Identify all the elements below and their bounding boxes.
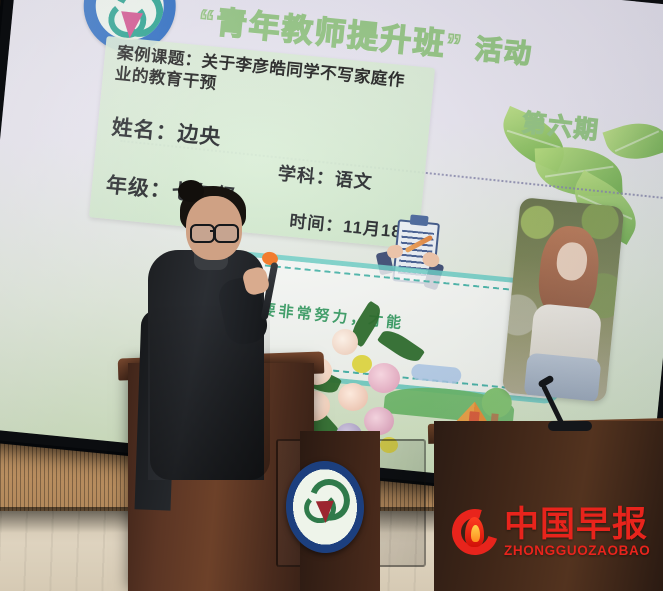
fern-leaf [377, 326, 425, 367]
glasses-bridge [210, 230, 216, 232]
lily [368, 363, 400, 393]
watermark-pinyin: ZHONGGUOZAOBAO [504, 544, 650, 558]
time-label: 时间： [289, 212, 345, 236]
photo-jeans [524, 353, 602, 403]
clipboard-clip [410, 214, 429, 226]
headline-quote-close: ” [444, 27, 465, 64]
case-info-card: 案例课题：关于李彦皓同学不写家庭作 业的教育干预 姓名：边央 学科：语文 年级：… [89, 36, 435, 249]
rose [338, 383, 368, 411]
rose [332, 329, 358, 355]
subject-value: 语文 [334, 169, 374, 193]
name-label: 姓名： [111, 116, 179, 145]
time-value: 11月18 [342, 217, 402, 242]
desk-microphone-base [548, 421, 592, 431]
watermark: 中国早报 ZHONGGUOZAOBAO [452, 507, 650, 558]
student-photo [502, 197, 625, 402]
time-field: 时间：11月18 [288, 207, 403, 243]
flame-inner [471, 525, 480, 542]
headline-activity: 活动 [474, 34, 535, 70]
emblem-v-shape [316, 501, 335, 524]
emblem-inner [93, 0, 167, 43]
glasses-lens-left [190, 224, 215, 243]
flame-logo-icon [452, 509, 498, 555]
name-field: 姓名：边央 [110, 111, 222, 152]
subject-label: 学科： [277, 163, 336, 188]
grade-label: 年级： [105, 174, 173, 203]
name-value: 边央 [176, 122, 222, 149]
watermark-text: 中国早报 ZHONGGUOZAOBAO [504, 507, 650, 558]
photo-scene: “青年教师提升班”活动 第六期 案例课题：关于李彦皓同学不写家庭作 业的教育干预… [0, 0, 663, 591]
subject-field: 学科：语文 [277, 159, 374, 194]
glasses-lens-right [214, 224, 239, 243]
emblem-v-shape [119, 11, 143, 39]
watermark-chinese: 中国早报 [504, 507, 650, 542]
yellow-filler [352, 355, 372, 373]
